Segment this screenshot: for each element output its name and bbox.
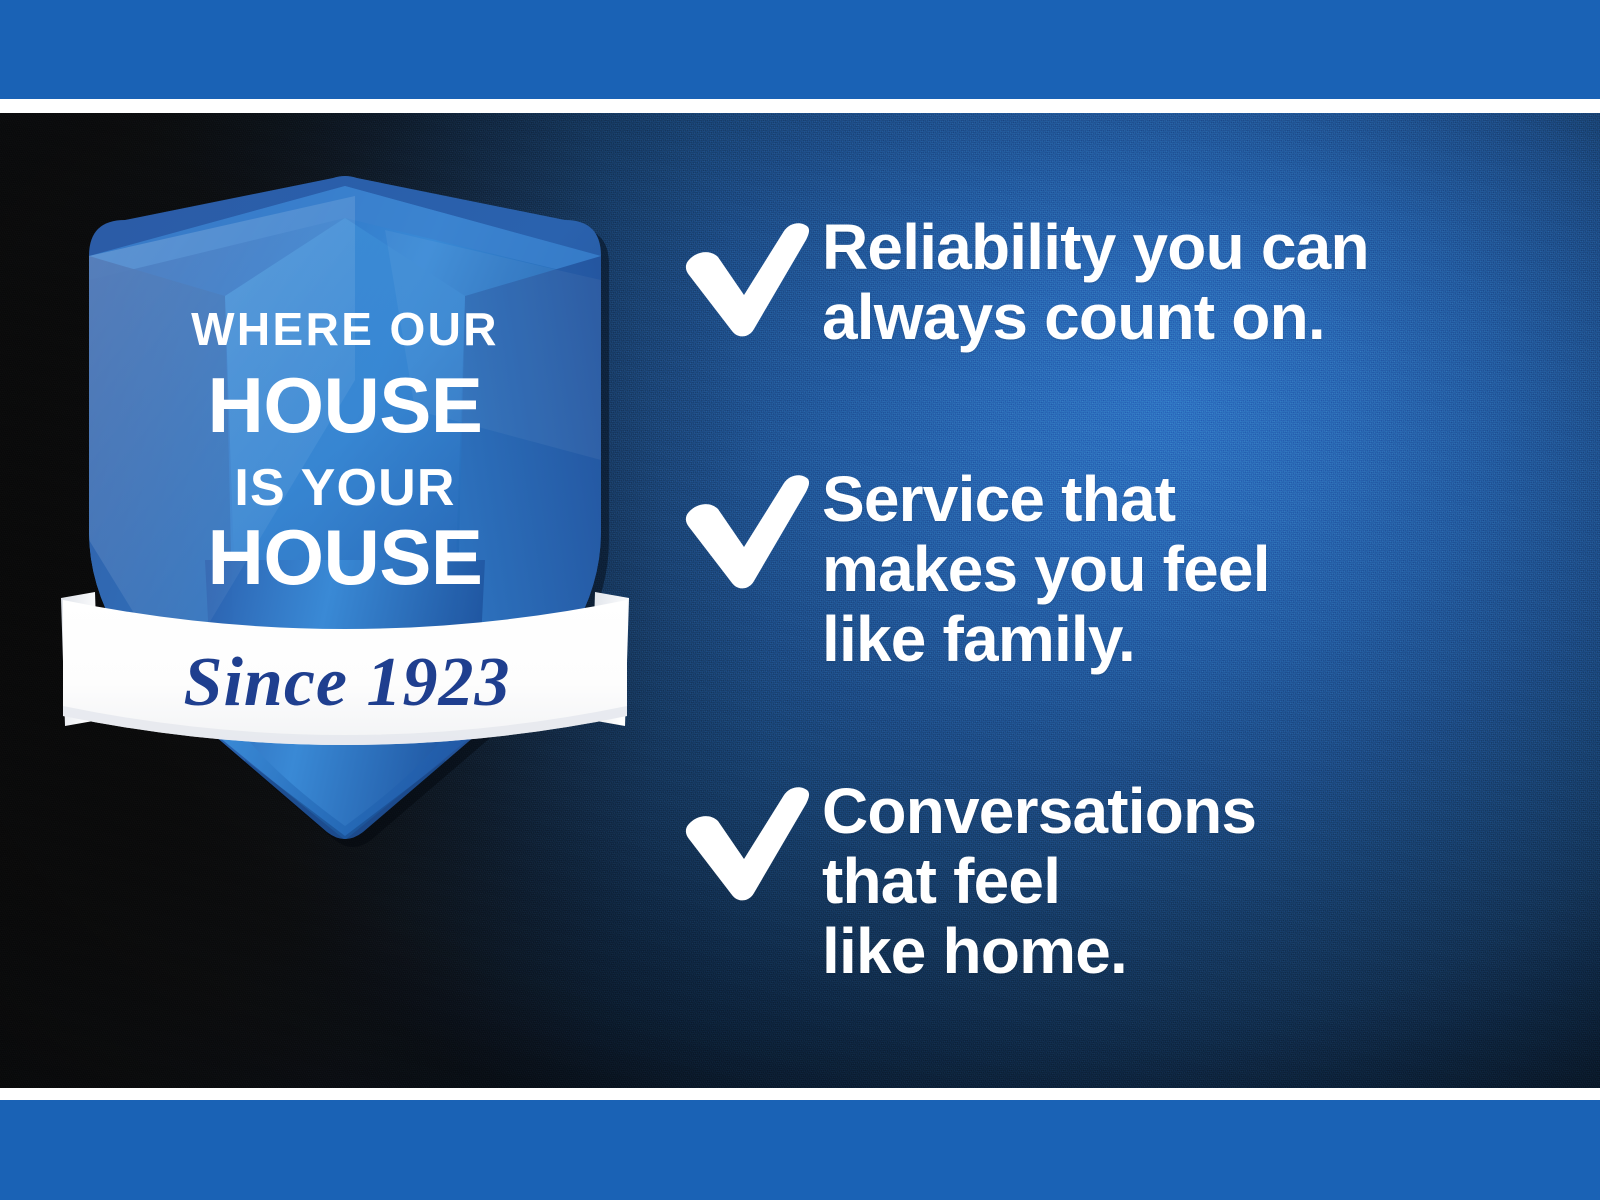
shield-line-2: HOUSE <box>208 361 483 449</box>
shield-line-3: IS YOUR <box>234 459 455 517</box>
checkmark-icon <box>672 783 822 905</box>
benefit-item: Conversations that feel like home. <box>672 777 1256 986</box>
benefit-text: Conversations that feel like home. <box>822 777 1256 986</box>
benefits-list: Reliability you can always count on. Ser… <box>672 113 1572 1088</box>
bottom-brand-bar <box>0 1100 1600 1200</box>
benefit-item: Service that makes you feel like family. <box>672 465 1270 674</box>
shield-line-1: WHERE OUR <box>191 303 499 355</box>
top-brand-bar <box>0 0 1600 99</box>
shield-line-4: HOUSE <box>208 513 483 601</box>
benefit-text: Reliability you can always count on. <box>822 213 1369 353</box>
benefit-item: Reliability you can always count on. <box>672 213 1369 353</box>
promo-graphic: WHERE OUR HOUSE IS YOUR HOUSE Since 1923 <box>0 0 1600 1200</box>
checkmark-icon <box>672 219 822 341</box>
shield-logo: WHERE OUR HOUSE IS YOUR HOUSE Since 1923 <box>55 160 635 810</box>
checkmark-icon <box>672 471 822 593</box>
benefit-text: Service that makes you feel like family. <box>822 465 1270 674</box>
since-text: Since 1923 <box>184 644 511 721</box>
